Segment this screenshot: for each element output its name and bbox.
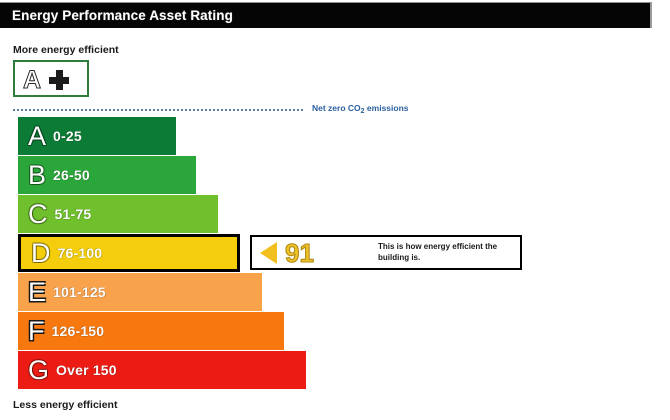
rating-band-g: GOver 150 (18, 351, 306, 389)
current-rating-box: 91 This is how energy efficient the buil… (250, 235, 522, 270)
rating-note: This is how energy efficient the buildin… (378, 241, 518, 263)
band-range: 126-150 (52, 323, 105, 339)
net-zero-label-prefix: Net zero CO (312, 103, 361, 113)
net-zero-label: Net zero CO2 emissions (312, 103, 409, 113)
band-letter: E (28, 279, 46, 306)
rating-band-f: F126-150 (18, 312, 284, 350)
band-letter: F (28, 318, 45, 345)
net-zero-label-suffix: emissions (365, 103, 409, 113)
band-letter: B (28, 162, 46, 189)
a-plus-band-box: A (13, 60, 89, 97)
title-bar: Energy Performance Asset Rating (0, 2, 652, 28)
band-letter: C (28, 201, 48, 228)
rating-band-a: A0-25 (18, 117, 176, 155)
band-range: 101-125 (53, 284, 106, 300)
rating-value: 91 (285, 239, 314, 267)
rating-band-b: B26-50 (18, 156, 196, 194)
net-zero-dotted-line (13, 109, 303, 111)
band-letter: D (31, 240, 51, 267)
rating-band-e: E101-125 (18, 273, 262, 311)
band-range: 26-50 (53, 167, 90, 183)
band-range: Over 150 (56, 362, 117, 378)
band-letter: A (28, 123, 46, 150)
energy-performance-certificate: Energy Performance Asset Rating More ene… (0, 0, 670, 420)
rating-band-c: C51-75 (18, 195, 218, 233)
band-range: 51-75 (55, 206, 92, 222)
a-plus-letter: A (23, 65, 41, 95)
band-range: 0-25 (53, 128, 82, 144)
band-range: 76-100 (58, 245, 103, 261)
band-letter: G (28, 357, 49, 384)
left-arrow-icon (260, 242, 277, 264)
less-energy-efficient-label: Less energy efficient (13, 399, 117, 411)
plus-icon (49, 70, 69, 90)
more-energy-efficient-label: More energy efficient (13, 44, 119, 56)
net-zero-label-sub: 2 (361, 108, 365, 115)
page-title: Energy Performance Asset Rating (12, 8, 233, 23)
rating-band-d: D76-100 (18, 234, 240, 272)
